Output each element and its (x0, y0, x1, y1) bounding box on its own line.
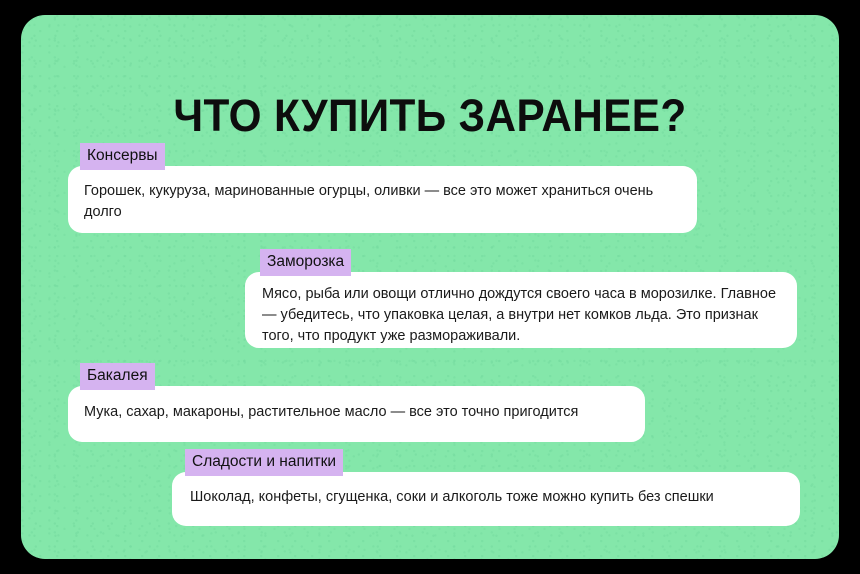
tip-card-sladosti-i-napitki: Шоколад, конфеты, сгущенка, соки и алког… (172, 472, 800, 526)
poster-panel: ЧТО КУПИТЬ ЗАРАНЕЕ? Горошек, кукуруза, м… (21, 15, 839, 559)
tip-card-zamorozka: Мясо, рыба или овощи отлично дождутся св… (245, 272, 797, 348)
tip-card-text: Мука, сахар, макароны, растительное масл… (84, 402, 634, 423)
tip-card-bakaleya: Мука, сахар, макароны, растительное масл… (68, 386, 645, 442)
tip-card-konservy: Горошек, кукуруза, маринованные огурцы, … (68, 166, 697, 233)
tip-card-badge-konservy: Консервы (80, 143, 165, 170)
infographic-poster: ЧТО КУПИТЬ ЗАРАНЕЕ? Горошек, кукуруза, м… (0, 0, 860, 574)
tip-card-badge-bakaleya: Бакалея (80, 363, 155, 390)
tip-card-text: Шоколад, конфеты, сгущенка, соки и алког… (190, 487, 790, 508)
tip-card-text: Горошек, кукуруза, маринованные огурцы, … (84, 181, 684, 223)
tip-card-text: Мясо, рыба или овощи отлично дождутся св… (262, 284, 787, 347)
tip-card-badge-sladosti-i-napitki: Сладости и напитки (185, 449, 343, 476)
tip-card-badge-zamorozka: Заморозка (260, 249, 351, 276)
page-title: ЧТО КУПИТЬ ЗАРАНЕЕ? (46, 90, 815, 142)
